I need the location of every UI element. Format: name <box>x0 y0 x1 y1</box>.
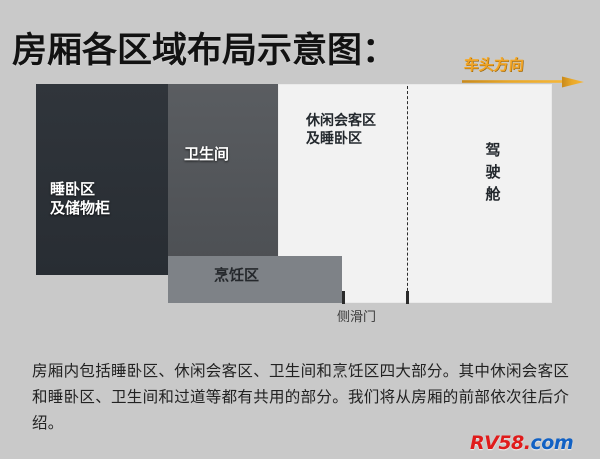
zone-label-driver-cabin: 驾 驶 舱 <box>480 140 506 205</box>
zone-label-sleeping-storage: 睡卧区 及储物柜 <box>50 180 170 218</box>
sliding-door-tick-right <box>406 291 409 304</box>
zone-label-bathroom: 卫生间 <box>184 145 284 164</box>
page-title: 房厢各区域布局示意图： <box>12 30 397 72</box>
cabin-floorplan-diagram: 睡卧区 及储物柜 卫生间 休闲会客区 及睡卧区 烹饪区 驾 驶 舱 侧滑门 <box>0 84 600 324</box>
zone-bathroom <box>168 84 278 261</box>
direction-label: 车头方向 <box>463 54 524 75</box>
site-watermark: RV58.com <box>470 432 573 454</box>
sliding-door-tick-left <box>342 291 345 304</box>
sliding-door-label: 侧滑门 <box>337 306 376 325</box>
zone-label-lounge: 休闲会客区 及睡卧区 <box>306 113 436 148</box>
watermark-dot: . <box>524 432 531 454</box>
watermark-name: RV58 <box>470 432 524 454</box>
description-paragraph: 房厢内包括睡卧区、休闲会客区、卫生间和烹饪区四大部分。其中休闲会客区和睡卧区、卫… <box>32 358 572 436</box>
zone-label-kitchen: 烹饪区 <box>214 266 324 285</box>
title-row: 房厢各区域布局示意图： 车头方向 <box>0 14 600 76</box>
zone-divider-dashed-line <box>407 86 408 301</box>
watermark-tld: com <box>531 432 574 454</box>
